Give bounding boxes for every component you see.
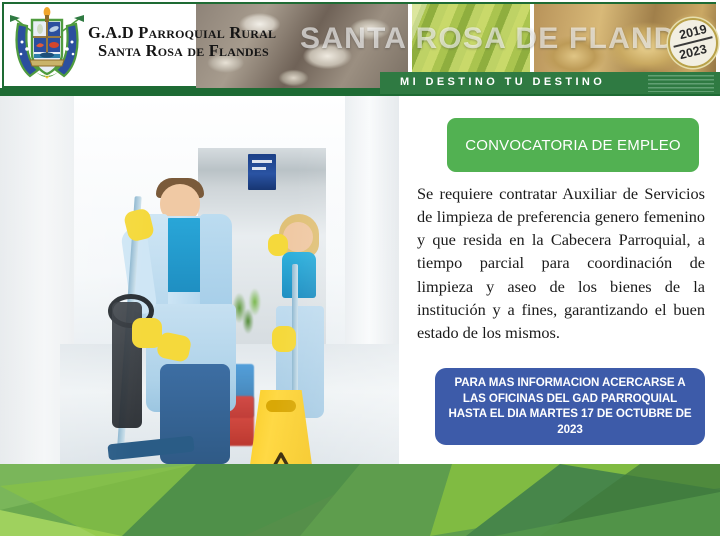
slogan-text: MI DESTINO TU DESTINO [400, 76, 605, 88]
cleaning-staff-photo [0, 96, 399, 464]
term-years-seal: 2019 2023 [668, 18, 718, 68]
coat-of-arms-icon [8, 6, 86, 86]
convocatoria-title-badge[interactable]: CONVOCATORIA DE EMPLEO [447, 118, 699, 172]
wall-sign [248, 154, 276, 190]
job-description-text: Se requiere contratar Auxiliar de Servic… [417, 182, 705, 344]
contact-notice-box: PARA MAS INFORMACION ACERCARSE A LAS OFI… [435, 368, 705, 445]
header-banner: SANTA ROSA DE FLANDES [0, 0, 720, 96]
organization-name: G.A.D Parroquial Rural Santa Rosa de Fla… [88, 24, 318, 60]
slip-hazard-icon [256, 452, 306, 464]
slogan-bar: MI DESTINO TU DESTINO [380, 72, 720, 94]
poster: SANTA ROSA DE FLANDES [0, 0, 720, 536]
org-name-line1: G.A.D Parroquial Rural [88, 24, 318, 42]
footer-geometric-band [0, 464, 720, 536]
body-area: CONVOCATORIA DE EMPLEO Se requiere contr… [0, 96, 720, 464]
slogan-stripes-decor [648, 75, 714, 92]
org-name-line2: Santa Rosa de Flandes [88, 42, 318, 60]
content-panel: CONVOCATORIA DE EMPLEO Se requiere contr… [399, 96, 720, 464]
